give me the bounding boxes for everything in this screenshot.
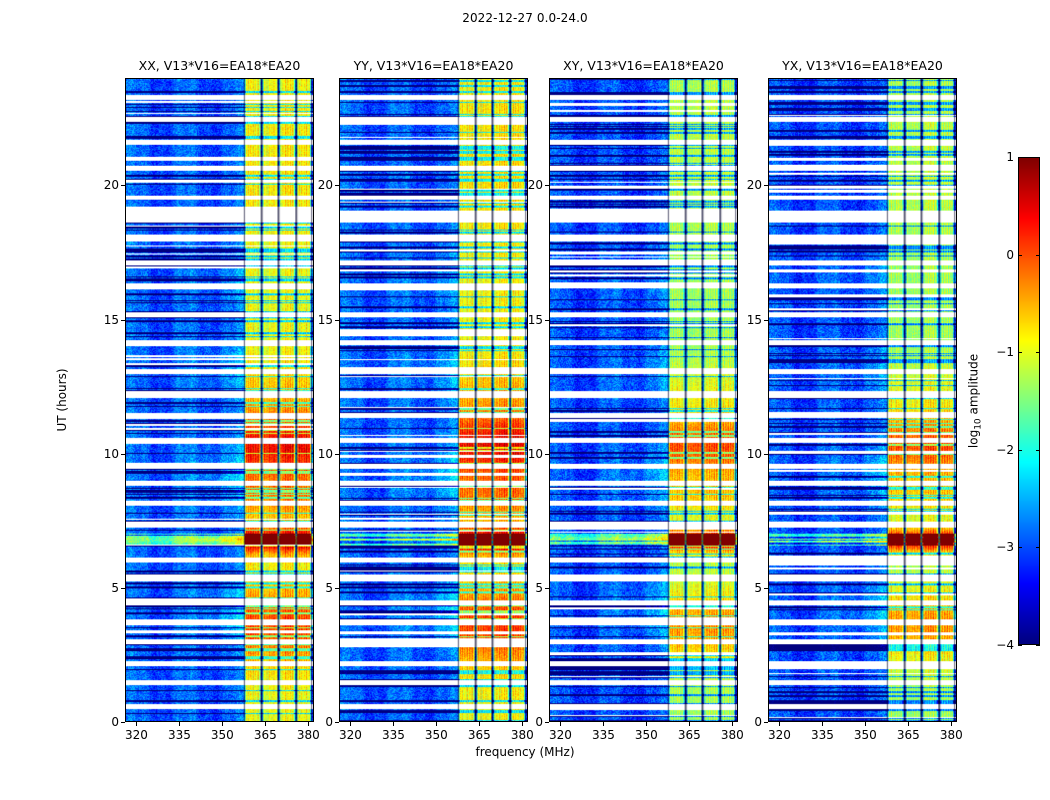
x-tick-label: 335: [583, 728, 623, 742]
y-tick-label: 20: [503, 178, 543, 192]
y-tick-label: 15: [503, 313, 543, 327]
y-tick-mark: [121, 722, 125, 723]
colorbar-tick-mark: [1018, 547, 1022, 548]
y-tick-mark: [335, 722, 339, 723]
y-tick-label: 20: [722, 178, 762, 192]
x-tick-mark: [865, 722, 866, 726]
panel-title-yy: YY, V13*V16=EA18*EA20: [339, 58, 528, 73]
y-tick-mark: [121, 454, 125, 455]
colorbar-tick-mark: [1018, 645, 1022, 646]
colorbar-tick-label: −2: [988, 443, 1014, 457]
x-tick-label: 320: [116, 728, 156, 742]
x-tick-label: 350: [845, 728, 885, 742]
colorbar-tick-mark: [1036, 645, 1040, 646]
y-tick-label: 15: [722, 313, 762, 327]
y-tick-mark: [335, 588, 339, 589]
x-tick-mark: [603, 722, 604, 726]
y-tick-label: 5: [503, 581, 543, 595]
colorbar-tick-mark: [1018, 157, 1022, 158]
colorbar-tick-mark: [1018, 255, 1022, 256]
x-tick-label: 320: [330, 728, 370, 742]
y-tick-label: 5: [293, 581, 333, 595]
y-tick-mark: [545, 320, 549, 321]
colorbar-tick-label: −4: [988, 638, 1014, 652]
y-tick-label: 20: [79, 178, 119, 192]
x-tick-mark: [479, 722, 480, 726]
x-tick-mark: [265, 722, 266, 726]
x-tick-label: 350: [202, 728, 242, 742]
y-tick-label: 15: [79, 313, 119, 327]
colorbar-tick-mark: [1036, 352, 1040, 353]
colorbar-tick-mark: [1036, 255, 1040, 256]
colorbar-tick-label: 0: [988, 248, 1014, 262]
x-tick-mark: [136, 722, 137, 726]
colorbar-tick-mark: [1018, 352, 1022, 353]
y-tick-mark: [764, 185, 768, 186]
x-tick-mark: [436, 722, 437, 726]
x-axis-label: frequency (MHz): [0, 745, 1050, 759]
y-tick-label: 0: [722, 715, 762, 729]
x-tick-mark: [350, 722, 351, 726]
x-tick-mark: [908, 722, 909, 726]
y-tick-label: 5: [79, 581, 119, 595]
y-tick-mark: [545, 454, 549, 455]
y-tick-mark: [121, 588, 125, 589]
y-tick-label: 5: [722, 581, 762, 595]
y-tick-mark: [335, 454, 339, 455]
x-tick-label: 365: [459, 728, 499, 742]
x-tick-mark: [689, 722, 690, 726]
x-tick-label: 320: [759, 728, 799, 742]
colorbar-tick-label: −1: [988, 345, 1014, 359]
y-tick-label: 10: [503, 447, 543, 461]
x-tick-label: 380: [288, 728, 328, 742]
colorbar-label-sub: 10: [974, 418, 984, 429]
x-tick-label: 380: [712, 728, 752, 742]
x-tick-label: 365: [669, 728, 709, 742]
y-tick-mark: [764, 722, 768, 723]
y-tick-label: 10: [722, 447, 762, 461]
figure-canvas: 2022-12-27 0.0-24.0 XX, V13*V16=EA18*EA2…: [0, 0, 1050, 800]
y-tick-label: 0: [503, 715, 543, 729]
x-tick-mark: [560, 722, 561, 726]
colorbar-tick-mark: [1018, 450, 1022, 451]
y-tick-label: 10: [293, 447, 333, 461]
y-tick-mark: [545, 588, 549, 589]
colorbar-tick-mark: [1036, 547, 1040, 548]
x-tick-label: 380: [931, 728, 971, 742]
x-tick-label: 365: [245, 728, 285, 742]
panel-title-yx: YX, V13*V16=EA18*EA20: [768, 58, 957, 73]
y-tick-label: 0: [79, 715, 119, 729]
x-tick-mark: [393, 722, 394, 726]
y-tick-mark: [121, 185, 125, 186]
y-tick-mark: [545, 185, 549, 186]
y-tick-label: 0: [293, 715, 333, 729]
colorbar-tick-mark: [1036, 450, 1040, 451]
colorbar: [1018, 157, 1040, 645]
heatmap-panel-yx: [768, 78, 957, 722]
figure-suptitle: 2022-12-27 0.0-24.0: [0, 11, 1050, 25]
x-tick-label: 365: [888, 728, 928, 742]
y-tick-mark: [764, 320, 768, 321]
colorbar-tick-mark: [1036, 157, 1040, 158]
colorbar-tick-label: −3: [988, 540, 1014, 554]
y-axis-label: UT (hours): [55, 368, 69, 431]
y-tick-label: 20: [293, 178, 333, 192]
colorbar-label: log10 amplitude: [966, 354, 983, 448]
x-tick-mark: [951, 722, 952, 726]
y-tick-mark: [335, 185, 339, 186]
colorbar-label-main: log: [966, 430, 980, 448]
y-tick-mark: [335, 320, 339, 321]
heatmap-panel-xy: [549, 78, 738, 722]
x-tick-label: 335: [802, 728, 842, 742]
panel-title-xx: XX, V13*V16=EA18*EA20: [125, 58, 314, 73]
panel-title-xy: XY, V13*V16=EA18*EA20: [549, 58, 738, 73]
y-tick-mark: [764, 454, 768, 455]
y-tick-label: 10: [79, 447, 119, 461]
x-tick-label: 350: [416, 728, 456, 742]
x-tick-mark: [822, 722, 823, 726]
x-tick-mark: [222, 722, 223, 726]
colorbar-label-tail: amplitude: [966, 354, 980, 418]
colorbar-tick-label: 1: [988, 150, 1014, 164]
x-tick-label: 335: [373, 728, 413, 742]
x-tick-mark: [779, 722, 780, 726]
x-tick-label: 380: [502, 728, 542, 742]
heatmap-panel-yy: [339, 78, 528, 722]
x-tick-label: 320: [540, 728, 580, 742]
y-tick-mark: [121, 320, 125, 321]
y-tick-mark: [545, 722, 549, 723]
heatmap-panel-xx: [125, 78, 314, 722]
x-tick-label: 335: [159, 728, 199, 742]
y-tick-mark: [764, 588, 768, 589]
x-tick-mark: [179, 722, 180, 726]
x-tick-mark: [646, 722, 647, 726]
x-tick-label: 350: [626, 728, 666, 742]
y-tick-label: 15: [293, 313, 333, 327]
